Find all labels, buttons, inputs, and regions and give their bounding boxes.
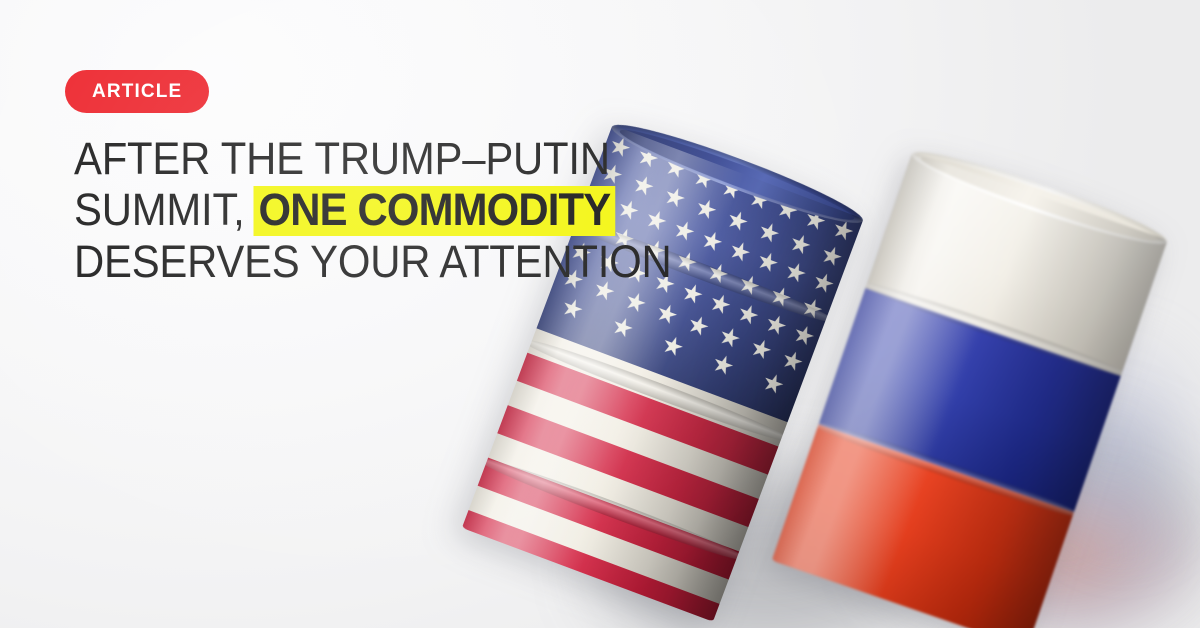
flag-star-icon xyxy=(717,325,743,351)
barrel-illustration xyxy=(0,0,1200,628)
flag-star-icon xyxy=(654,301,680,327)
flag-star-icon xyxy=(780,348,806,374)
flag-star-icon xyxy=(693,196,719,222)
headline-line-2-plain: SUMMIT, xyxy=(74,184,245,235)
flag-star-icon xyxy=(735,302,761,328)
flag-star-icon xyxy=(707,291,733,317)
flag-star-icon xyxy=(685,313,711,339)
page-title: AFTER THE TRUMP–PUTIN SUMMIT, ONE COMMOD… xyxy=(74,133,694,287)
headline-line-2: SUMMIT, ONE COMMODITY xyxy=(74,184,651,236)
flag-star-icon xyxy=(791,323,817,349)
flag-star-icon xyxy=(783,260,809,286)
flag-star-icon xyxy=(811,270,837,296)
headline-highlight: ONE COMMODITY xyxy=(254,186,615,236)
flag-star-icon xyxy=(755,249,781,275)
flag-star-icon xyxy=(623,290,649,316)
flag-star-icon xyxy=(819,243,845,269)
flag-star-icon xyxy=(710,352,736,378)
flag-star-icon xyxy=(727,239,753,265)
flag-star-icon xyxy=(760,371,786,397)
flag-star-icon xyxy=(756,220,782,246)
headline-line-3: DESERVES YOUR ATTENTION xyxy=(74,236,651,287)
flag-star-icon xyxy=(725,208,751,234)
flag-star-icon xyxy=(763,312,789,338)
flag-star-icon xyxy=(699,228,725,254)
flag-star-icon xyxy=(748,336,774,362)
headline-line-1: AFTER THE TRUMP–PUTIN xyxy=(74,133,651,184)
flag-star-icon xyxy=(610,315,636,341)
banner-canvas: ARTICLE AFTER THE TRUMP–PUTIN SUMMIT, ON… xyxy=(0,0,1200,628)
flag-star-icon xyxy=(787,232,813,258)
flag-star-icon xyxy=(560,296,586,322)
flag-star-icon xyxy=(660,333,686,359)
